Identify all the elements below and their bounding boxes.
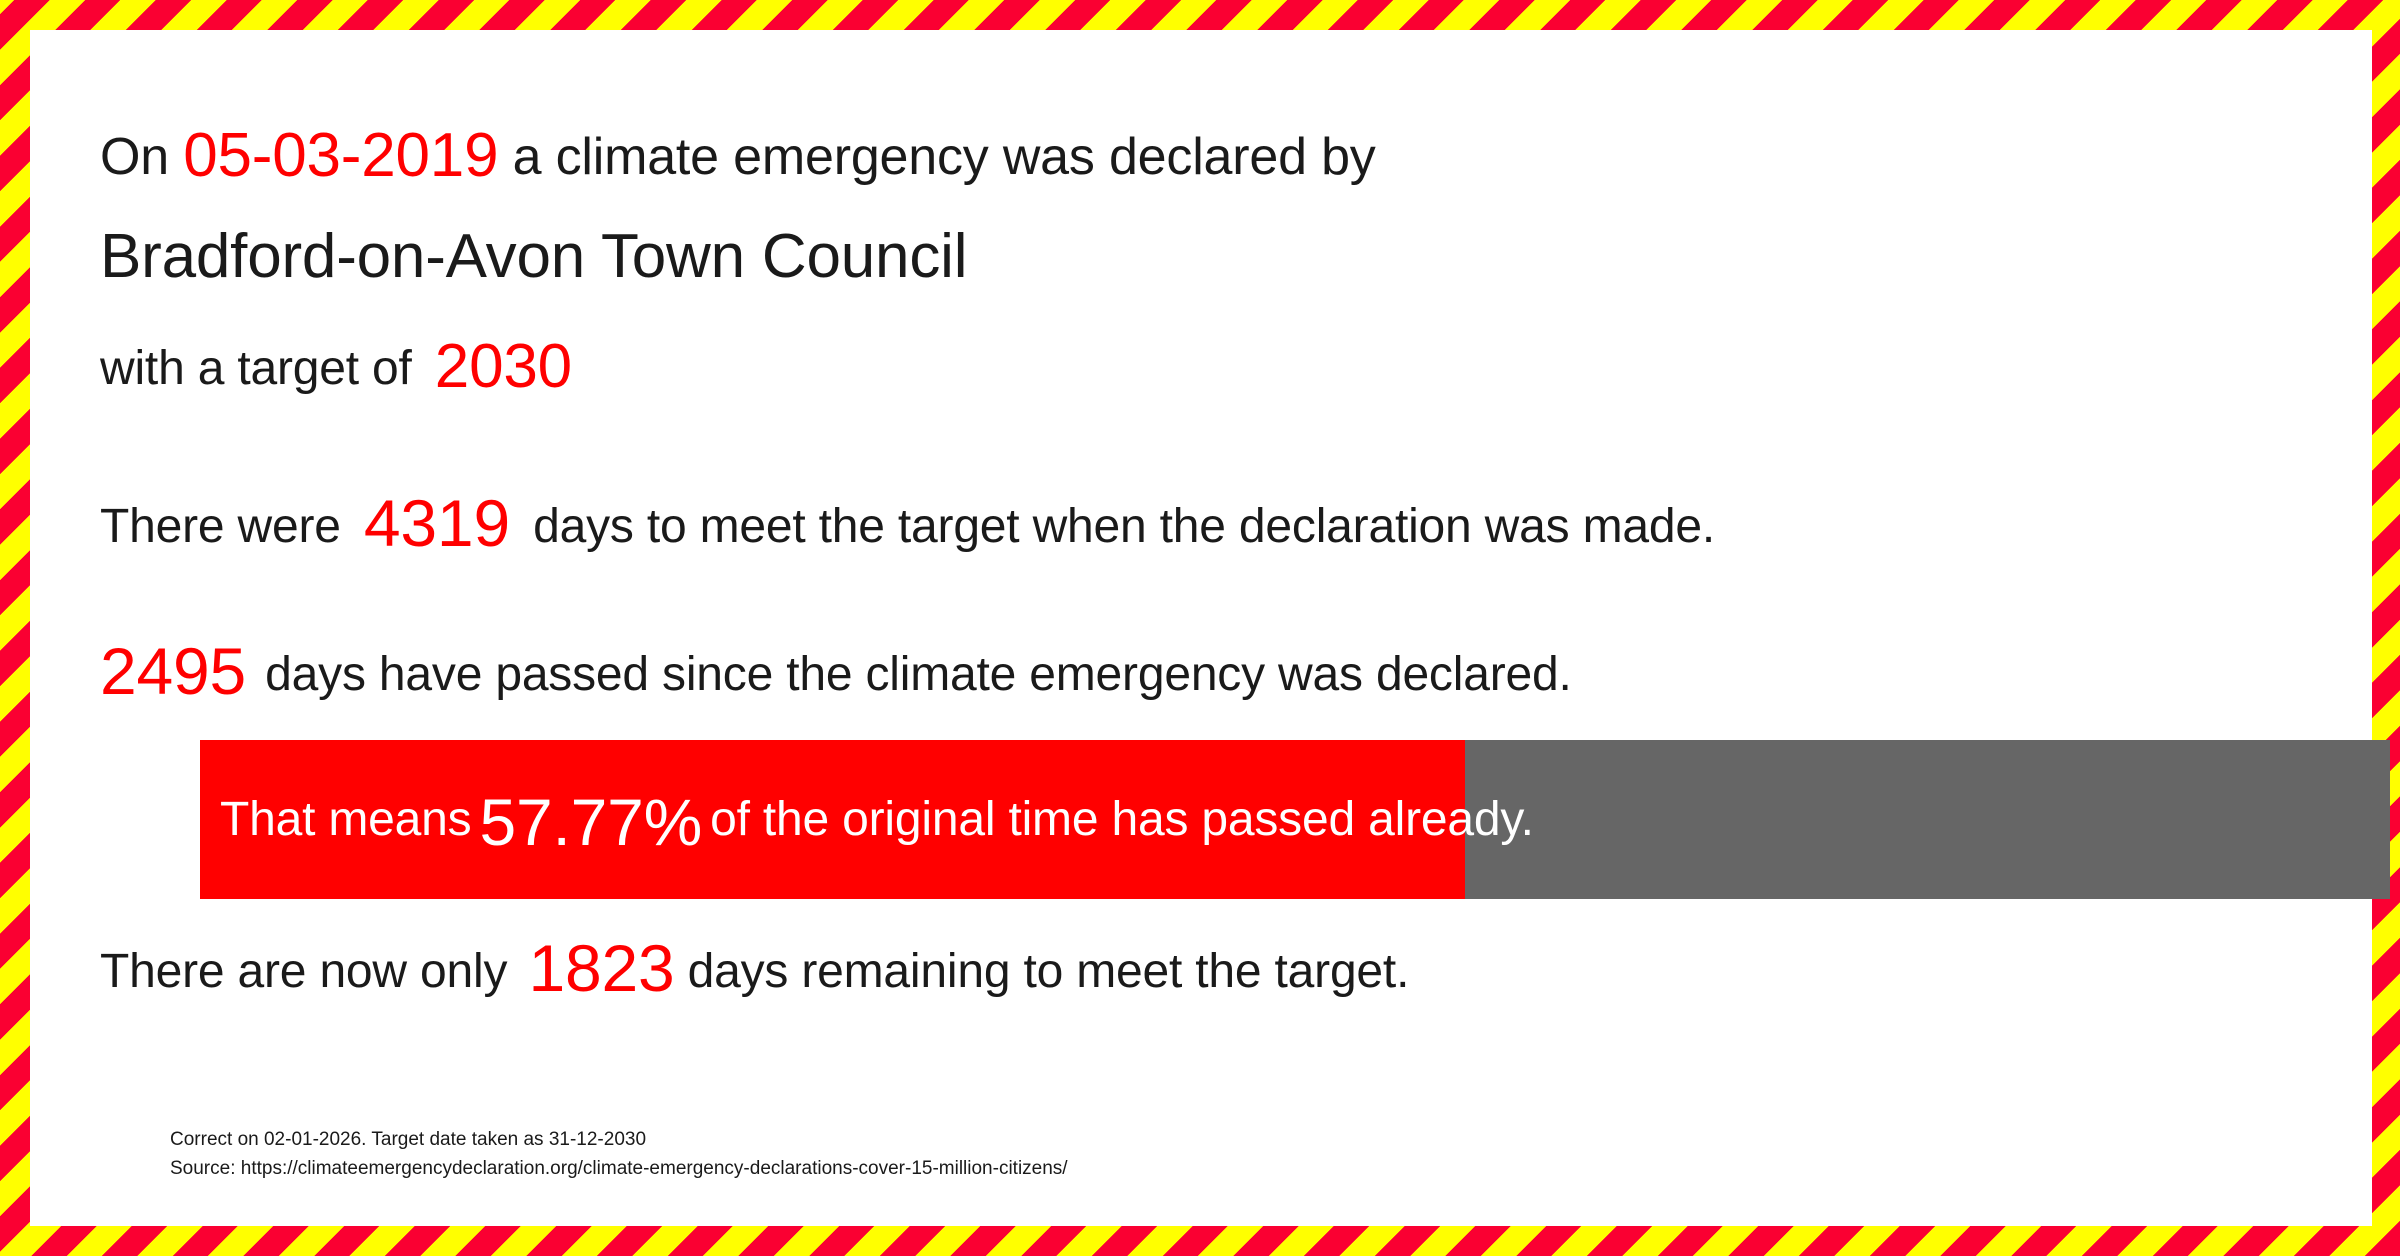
declaration-suffix: a climate emergency was declared by — [513, 128, 1376, 186]
target-line: with a target of 2030 — [100, 336, 572, 398]
footnotes: Correct on 02-01-2026. Target date taken… — [170, 1125, 1068, 1184]
progress-percent: 57.77% — [479, 789, 702, 855]
declaration-line: On 05-03-2019 a climate emergency was de… — [100, 125, 1376, 187]
content-area: On 05-03-2019 a climate emergency was de… — [100, 30, 2340, 1226]
progress-suffix: of the original time has passed already. — [710, 796, 1534, 844]
time-progress-bar: That means 57.77% of the original time h… — [200, 740, 2390, 899]
footnote-source: Source: https://climateemergencydeclarat… — [170, 1154, 1068, 1183]
declaration-prefix: On — [100, 128, 169, 186]
time-progress-label: That means 57.77% of the original time h… — [220, 740, 1534, 899]
elapsed-line: 2495 days have passed since the climate … — [100, 638, 1572, 704]
climate-emergency-card: On 05-03-2019 a climate emergency was de… — [0, 0, 2400, 1256]
elapsed-suffix: days have passed since the climate emerg… — [265, 648, 1571, 701]
elapsed-days: 2495 — [100, 634, 246, 708]
footnote-correct-on: Correct on 02-01-2026. Target date taken… — [170, 1125, 1068, 1154]
progress-prefix: That means — [220, 796, 471, 844]
white-panel: On 05-03-2019 a climate emergency was de… — [30, 30, 2372, 1226]
target-prefix: with a target of — [100, 342, 412, 395]
target-year: 2030 — [435, 332, 572, 401]
remaining-prefix: There are now only — [100, 945, 507, 998]
original-window-prefix: There were — [100, 500, 341, 553]
original-window-line: There were 4319 days to meet the target … — [100, 490, 1715, 556]
original-window-days: 4319 — [364, 486, 510, 560]
remaining-suffix: days remaining to meet the target. — [688, 945, 1410, 998]
remaining-days: 1823 — [528, 931, 674, 1005]
remaining-line: There are now only 1823 days remaining t… — [100, 935, 1409, 1001]
authority-name: Bradford-on-Avon Town Council — [100, 226, 967, 288]
declaration-date: 05-03-2019 — [183, 121, 498, 190]
original-window-suffix: days to meet the target when the declara… — [533, 500, 1715, 553]
